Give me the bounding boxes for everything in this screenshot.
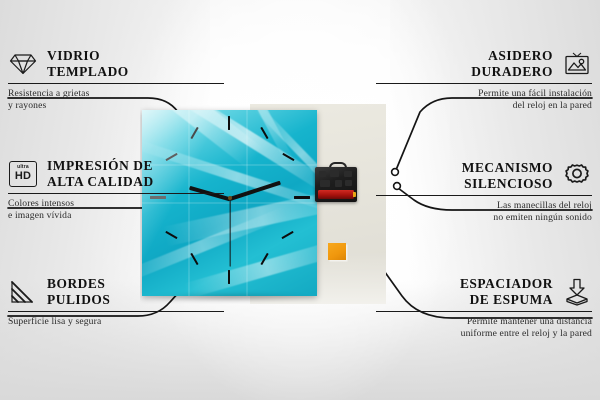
feature-title: IMPRESIÓN DE ALTA CALIDAD bbox=[47, 158, 224, 189]
clock-hand-second bbox=[229, 199, 230, 267]
title-divider bbox=[376, 195, 592, 196]
mechanism-battery bbox=[318, 190, 354, 199]
mechanism-body bbox=[315, 167, 357, 202]
tick-6 bbox=[228, 270, 230, 284]
feature-description: Las manecillas del reloj no emiten ningú… bbox=[376, 200, 592, 223]
title-divider bbox=[8, 311, 224, 312]
polished-edges-icon bbox=[8, 277, 38, 307]
feature-title: MECANISMO SILENCIOSO bbox=[376, 160, 553, 191]
feature-bordes-pulidos: BORDES PULIDOS Superficie lisa y segura bbox=[8, 276, 224, 328]
feature-espaciador-de-espuma: ESPACIADOR DE ESPUMA Permite mantener un… bbox=[376, 276, 592, 339]
feature-mecanismo-silencioso: MECANISMO SILENCIOSO Las manecillas del … bbox=[376, 160, 592, 223]
foam-spacer-sample bbox=[328, 243, 346, 260]
feature-description: Superficie lisa y segura bbox=[8, 316, 224, 327]
tick-3 bbox=[294, 196, 310, 199]
title-divider bbox=[8, 193, 224, 194]
feature-title: BORDES PULIDOS bbox=[47, 276, 224, 307]
feature-title: ESPACIADOR DE ESPUMA bbox=[376, 276, 553, 307]
feature-description: Permite mantener una distancia uniforme … bbox=[376, 316, 592, 339]
infographic-canvas: VIDRIO TEMPLADO Resistencia a grietas y … bbox=[0, 0, 600, 400]
title-divider bbox=[376, 83, 592, 84]
feature-asidero-duradero: ASIDERO DURADERO Permite una fácil insta… bbox=[376, 48, 592, 111]
press-down-pad-icon bbox=[562, 277, 592, 307]
ultra-hd-badge-large-text: HD bbox=[15, 171, 31, 182]
feature-description: Permite una fácil instalación del reloj … bbox=[376, 88, 592, 111]
gear-icon bbox=[562, 161, 592, 191]
feature-title: ASIDERO DURADERO bbox=[376, 48, 553, 79]
wall-hanger-frame-icon bbox=[562, 49, 592, 79]
title-divider bbox=[8, 83, 224, 84]
tick-12 bbox=[228, 116, 230, 130]
diamond-icon bbox=[8, 49, 38, 79]
feature-description: Colores intensos e imagen vívida bbox=[8, 198, 224, 221]
clock-mechanism bbox=[315, 162, 357, 202]
feature-vidrio-templado: VIDRIO TEMPLADO Resistencia a grietas y … bbox=[8, 48, 224, 111]
tick-11 bbox=[190, 127, 198, 139]
ultra-hd-badge-icon: ultra HD bbox=[8, 159, 38, 189]
feature-description: Resistencia a grietas y rayones bbox=[8, 88, 224, 111]
feature-impresion-alta-calidad: ultra HD IMPRESIÓN DE ALTA CALIDAD Color… bbox=[8, 158, 224, 221]
clock-center-hub bbox=[228, 196, 232, 200]
feature-title: VIDRIO TEMPLADO bbox=[47, 48, 224, 79]
title-divider bbox=[376, 311, 592, 312]
tick-4 bbox=[281, 231, 293, 239]
